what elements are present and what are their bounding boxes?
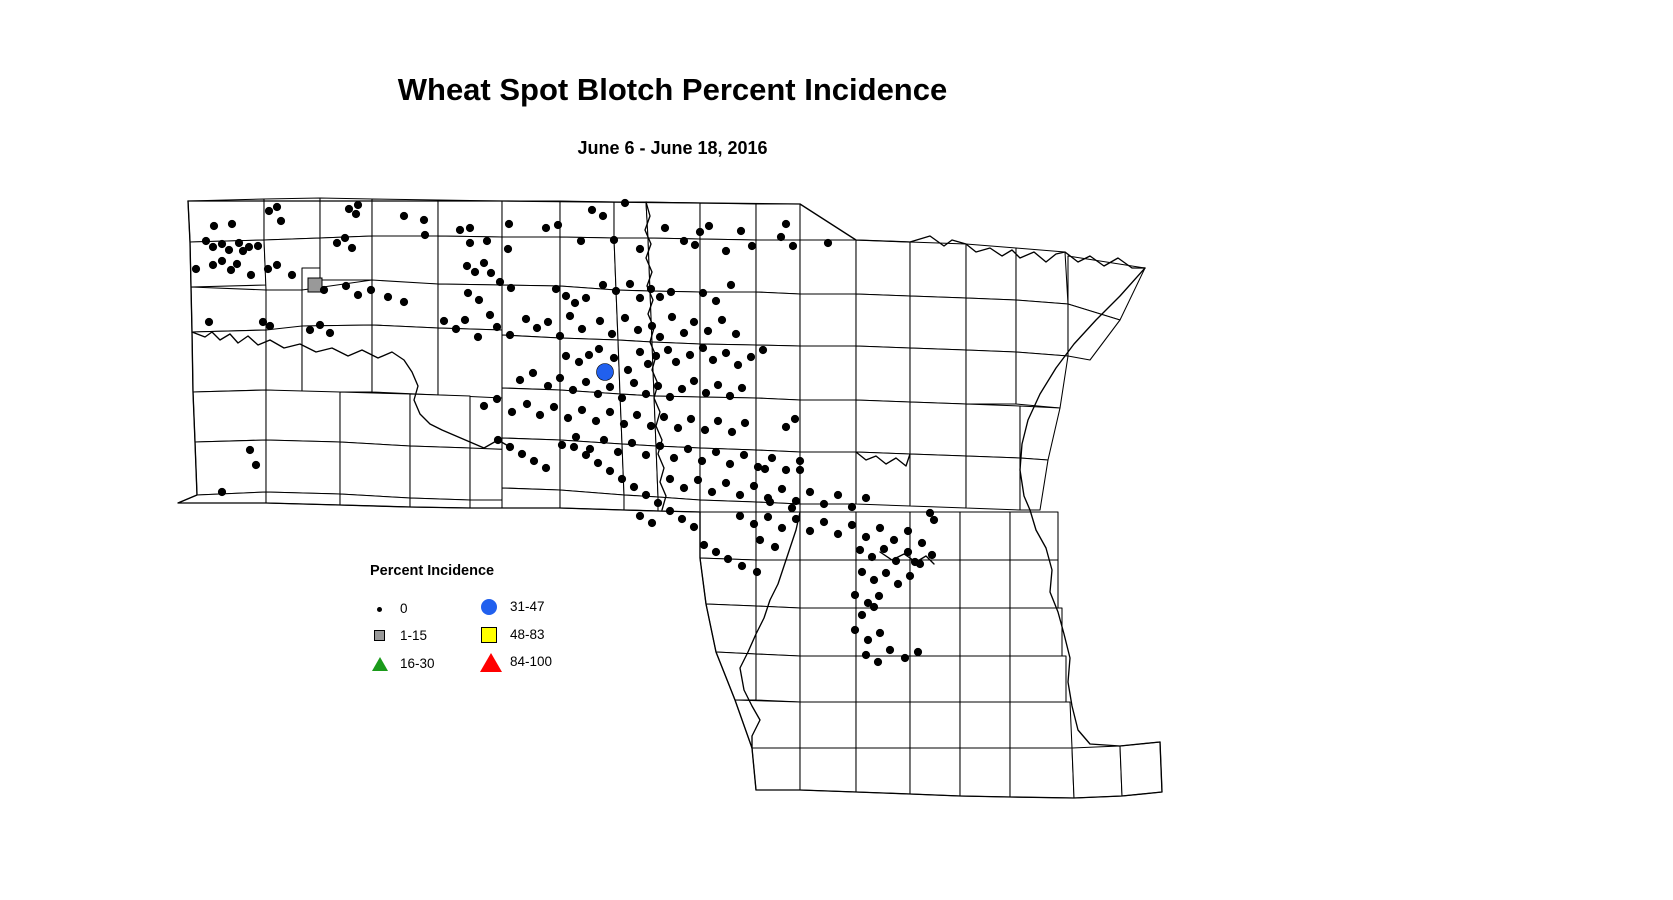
survey-point[interactable] — [696, 228, 704, 236]
survey-point[interactable] — [782, 220, 790, 228]
survey-point[interactable] — [778, 485, 786, 493]
survey-point[interactable] — [796, 466, 804, 474]
survey-point[interactable] — [894, 580, 902, 588]
survey-point[interactable] — [506, 443, 514, 451]
survey-point[interactable] — [792, 497, 800, 505]
survey-point[interactable] — [704, 327, 712, 335]
survey-point[interactable] — [556, 332, 564, 340]
survey-point[interactable] — [778, 524, 786, 532]
survey-point[interactable] — [461, 316, 469, 324]
legend-label-48-83: 48-83 — [510, 627, 545, 642]
survey-point[interactable] — [575, 358, 583, 366]
survey-point[interactable] — [738, 384, 746, 392]
survey-point[interactable] — [656, 442, 664, 450]
survey-point[interactable] — [636, 294, 644, 302]
survey-point[interactable] — [670, 454, 678, 462]
survey-point[interactable] — [789, 242, 797, 250]
survey-point[interactable] — [610, 236, 618, 244]
survey-point[interactable] — [354, 291, 362, 299]
survey-point[interactable] — [599, 212, 607, 220]
survey-point[interactable] — [209, 243, 217, 251]
survey-point[interactable] — [712, 297, 720, 305]
survey-point[interactable] — [352, 210, 360, 218]
survey-point[interactable] — [862, 533, 870, 541]
survey-point[interactable] — [708, 488, 716, 496]
survey-point[interactable] — [661, 224, 669, 232]
survey-point[interactable] — [904, 527, 912, 535]
survey-point[interactable] — [690, 523, 698, 531]
survey-point[interactable] — [718, 316, 726, 324]
survey-point[interactable] — [806, 488, 814, 496]
survey-point[interactable] — [740, 451, 748, 459]
survey-point[interactable] — [608, 330, 616, 338]
survey-point[interactable] — [766, 498, 774, 506]
legend-label-16-30: 16-30 — [400, 656, 435, 671]
survey-point[interactable] — [796, 457, 804, 465]
survey-point[interactable] — [463, 262, 471, 270]
survey-point[interactable] — [522, 315, 530, 323]
survey-point[interactable] — [700, 541, 708, 549]
survey-point[interactable] — [636, 245, 644, 253]
survey-point[interactable] — [684, 445, 692, 453]
survey-point[interactable] — [493, 323, 501, 331]
survey-point[interactable] — [633, 411, 641, 419]
survey-point[interactable] — [273, 261, 281, 269]
survey-point[interactable] — [642, 451, 650, 459]
survey-point[interactable] — [736, 512, 744, 520]
survey-point[interactable] — [647, 422, 655, 430]
survey-point[interactable] — [756, 536, 764, 544]
survey-point[interactable] — [782, 423, 790, 431]
survey-point[interactable] — [870, 576, 878, 584]
survey-point[interactable] — [782, 466, 790, 474]
survey-point[interactable] — [326, 329, 334, 337]
survey-point[interactable] — [254, 242, 262, 250]
legend-symbol-blue-circle-icon — [480, 596, 502, 618]
survey-point[interactable] — [694, 476, 702, 484]
survey-point[interactable] — [726, 460, 734, 468]
survey-point[interactable] — [890, 536, 898, 544]
survey-point[interactable] — [747, 353, 755, 361]
survey-point[interactable] — [648, 322, 656, 330]
survey-point[interactable] — [210, 222, 218, 230]
legend-symbol-black-dot-icon — [370, 598, 392, 620]
survey-point[interactable] — [420, 216, 428, 224]
survey-point[interactable] — [471, 268, 479, 276]
survey-point[interactable] — [680, 329, 688, 337]
survey-point[interactable] — [235, 239, 243, 247]
survey-point[interactable] — [571, 299, 579, 307]
survey-point[interactable] — [880, 545, 888, 553]
survey-point[interactable] — [316, 321, 324, 329]
survey-point[interactable] — [686, 351, 694, 359]
survey-point[interactable] — [690, 318, 698, 326]
survey-point[interactable] — [918, 539, 926, 547]
survey-point[interactable] — [227, 266, 235, 274]
survey-point[interactable] — [834, 491, 842, 499]
survey-point[interactable] — [698, 457, 706, 465]
survey-point[interactable] — [911, 558, 919, 566]
survey-point[interactable] — [806, 527, 814, 535]
survey-point[interactable] — [606, 383, 614, 391]
survey-point[interactable] — [218, 240, 226, 248]
survey-point[interactable] — [678, 385, 686, 393]
survey-point[interactable] — [421, 231, 429, 239]
survey-point[interactable] — [666, 475, 674, 483]
legend-label-1-15: 1-15 — [400, 628, 427, 643]
survey-point[interactable] — [726, 392, 734, 400]
survey-point[interactable] — [754, 463, 762, 471]
survey-point[interactable] — [614, 448, 622, 456]
survey-point[interactable] — [926, 509, 934, 517]
survey-point[interactable] — [644, 360, 652, 368]
survey-point[interactable] — [493, 395, 501, 403]
survey-point[interactable] — [247, 271, 255, 279]
survey-point[interactable] — [610, 354, 618, 362]
survey-point[interactable] — [550, 403, 558, 411]
survey-point[interactable] — [636, 348, 644, 356]
survey-point[interactable] — [636, 512, 644, 520]
survey-point[interactable] — [672, 358, 680, 366]
survey-point[interactable] — [536, 411, 544, 419]
survey-point[interactable] — [597, 364, 614, 381]
survey-point[interactable] — [664, 346, 672, 354]
survey-point[interactable] — [533, 324, 541, 332]
survey-point[interactable] — [712, 448, 720, 456]
survey-point[interactable] — [874, 658, 882, 666]
survey-point[interactable] — [914, 648, 922, 656]
survey-point[interactable] — [306, 326, 314, 334]
survey-point[interactable] — [233, 260, 241, 268]
survey-point[interactable] — [930, 516, 938, 524]
survey-point[interactable] — [556, 374, 564, 382]
legend-symbol-yellow-square-icon — [480, 624, 502, 646]
survey-point[interactable] — [652, 352, 660, 360]
survey-point[interactable] — [642, 491, 650, 499]
survey-point[interactable] — [612, 287, 620, 295]
survey-point[interactable] — [722, 349, 730, 357]
survey-point[interactable] — [732, 330, 740, 338]
survey-point[interactable] — [722, 479, 730, 487]
survey-point[interactable] — [529, 369, 537, 377]
survey-point[interactable] — [367, 286, 375, 294]
survey-point[interactable] — [892, 557, 900, 565]
survey-point[interactable] — [666, 507, 674, 515]
survey-point[interactable] — [862, 494, 870, 502]
survey-point[interactable] — [628, 439, 636, 447]
survey-point[interactable] — [554, 221, 562, 229]
survey-point[interactable] — [714, 381, 722, 389]
survey-point[interactable] — [508, 408, 516, 416]
survey-point[interactable] — [342, 282, 350, 290]
survey-point[interactable] — [400, 298, 408, 306]
legend-symbol-green-triangle-icon — [370, 653, 392, 675]
survey-point[interactable] — [259, 318, 267, 326]
survey-point[interactable] — [483, 237, 491, 245]
survey-point[interactable] — [906, 572, 914, 580]
survey-point[interactable] — [595, 345, 603, 353]
survey-point[interactable] — [523, 400, 531, 408]
survey-point[interactable] — [791, 415, 799, 423]
survey-point[interactable] — [552, 285, 560, 293]
survey-point[interactable] — [542, 464, 550, 472]
survey-point[interactable] — [592, 417, 600, 425]
survey-point[interactable] — [634, 326, 642, 334]
survey-point[interactable] — [245, 243, 253, 251]
survey-point[interactable] — [474, 333, 482, 341]
survey-point[interactable] — [596, 317, 604, 325]
survey-point[interactable] — [753, 568, 761, 576]
survey-point[interactable] — [209, 261, 217, 269]
survey-point[interactable] — [642, 390, 650, 398]
survey-point[interactable] — [876, 629, 884, 637]
survey-point[interactable] — [621, 199, 629, 207]
survey-point[interactable] — [618, 475, 626, 483]
survey-point[interactable] — [348, 244, 356, 252]
survey-point[interactable] — [578, 325, 586, 333]
survey-point[interactable] — [384, 293, 392, 301]
survey-point[interactable] — [864, 636, 872, 644]
survey-point[interactable] — [577, 237, 585, 245]
survey-point[interactable] — [862, 651, 870, 659]
survey-point[interactable] — [341, 234, 349, 242]
survey-point[interactable] — [569, 386, 577, 394]
survey-point[interactable] — [868, 553, 876, 561]
survey-point[interactable] — [666, 393, 674, 401]
survey-point[interactable] — [542, 224, 550, 232]
survey-point[interactable] — [738, 562, 746, 570]
survey-point[interactable] — [761, 465, 769, 473]
survey-point[interactable] — [562, 352, 570, 360]
map-legend: Percent Incidence 0 1-15 16-30 31-4 — [370, 558, 630, 688]
survey-point[interactable] — [288, 271, 296, 279]
survey-point[interactable] — [504, 245, 512, 253]
survey-point[interactable] — [333, 239, 341, 247]
survey-point[interactable] — [564, 414, 572, 422]
survey-point[interactable] — [678, 515, 686, 523]
survey-point[interactable] — [544, 382, 552, 390]
survey-point[interactable] — [736, 491, 744, 499]
survey-point[interactable] — [266, 322, 274, 330]
survey-point[interactable] — [594, 390, 602, 398]
legend-title: Percent Incidence — [370, 563, 494, 579]
survey-point[interactable] — [660, 413, 668, 421]
map-figure-canvas: Wheat Spot Blotch Percent Incidence June… — [0, 0, 1673, 900]
survey-point[interactable] — [606, 467, 614, 475]
survey-point[interactable] — [674, 424, 682, 432]
survey-point[interactable] — [750, 482, 758, 490]
survey-point[interactable] — [680, 484, 688, 492]
legend-label-31-47: 31-47 — [510, 599, 545, 614]
survey-point[interactable] — [901, 654, 909, 662]
survey-point[interactable] — [768, 454, 776, 462]
survey-point[interactable] — [578, 406, 586, 414]
survey-point[interactable] — [647, 285, 655, 293]
survey-point[interactable] — [656, 293, 664, 301]
survey-point[interactable] — [480, 259, 488, 267]
survey-point[interactable] — [506, 331, 514, 339]
survey-point[interactable] — [870, 603, 878, 611]
survey-point[interactable] — [792, 515, 800, 523]
survey-point[interactable] — [518, 450, 526, 458]
survey-point[interactable] — [530, 457, 538, 465]
survey-point[interactable] — [265, 207, 273, 215]
survey-point[interactable] — [494, 436, 502, 444]
survey-point[interactable] — [452, 325, 460, 333]
legend-label-84-100: 84-100 — [510, 654, 552, 669]
survey-point[interactable] — [599, 281, 607, 289]
survey-point[interactable] — [856, 546, 864, 554]
survey-point[interactable] — [566, 312, 574, 320]
survey-point[interactable] — [582, 378, 590, 386]
survey-point[interactable] — [705, 222, 713, 230]
survey-point[interactable] — [620, 420, 628, 428]
survey-point[interactable] — [218, 257, 226, 265]
survey-point[interactable] — [544, 318, 552, 326]
survey-point[interactable] — [727, 281, 735, 289]
survey-point[interactable] — [600, 436, 608, 444]
survey-point[interactable] — [876, 524, 884, 532]
survey-point[interactable] — [487, 269, 495, 277]
survey-point[interactable] — [702, 389, 710, 397]
survey-point[interactable] — [848, 521, 856, 529]
survey-point[interactable] — [621, 314, 629, 322]
survey-point[interactable] — [558, 441, 566, 449]
survey-point[interactable] — [464, 289, 472, 297]
survey-point[interactable] — [654, 382, 662, 390]
survey-point[interactable] — [858, 568, 866, 576]
survey-point[interactable] — [848, 503, 856, 511]
survey-point[interactable] — [699, 289, 707, 297]
survey-point[interactable] — [246, 446, 254, 454]
survey-point[interactable] — [205, 318, 213, 326]
survey-point[interactable] — [764, 513, 772, 521]
survey-point[interactable] — [505, 220, 513, 228]
survey-point[interactable] — [701, 426, 709, 434]
choropleth-point-map[interactable] — [0, 0, 1673, 900]
survey-point[interactable] — [192, 265, 200, 273]
survey-point[interactable] — [630, 379, 638, 387]
survey-point[interactable] — [656, 333, 664, 341]
survey-point[interactable] — [820, 518, 828, 526]
survey-point[interactable] — [690, 377, 698, 385]
survey-point[interactable] — [691, 241, 699, 249]
survey-point[interactable] — [252, 461, 260, 469]
survey-point[interactable] — [400, 212, 408, 220]
survey-point[interactable] — [759, 346, 767, 354]
survey-point[interactable] — [928, 551, 936, 559]
survey-point[interactable] — [218, 488, 226, 496]
survey-point[interactable] — [273, 203, 281, 211]
survey-point[interactable] — [582, 451, 590, 459]
survey-point[interactable] — [668, 313, 676, 321]
survey-point[interactable] — [486, 311, 494, 319]
survey-point[interactable] — [858, 611, 866, 619]
survey-point[interactable] — [654, 499, 662, 507]
survey-point[interactable] — [882, 569, 890, 577]
survey-point[interactable] — [748, 242, 756, 250]
survey-point[interactable] — [626, 280, 634, 288]
survey-point[interactable] — [562, 292, 570, 300]
survey-point[interactable] — [699, 344, 707, 352]
survey-point[interactable] — [834, 530, 842, 538]
survey-point[interactable] — [722, 247, 730, 255]
survey-point[interactable] — [624, 366, 632, 374]
survey-point[interactable] — [588, 206, 596, 214]
survey-point[interactable] — [308, 278, 322, 292]
survey-point[interactable] — [714, 417, 722, 425]
survey-point[interactable] — [741, 419, 749, 427]
survey-point[interactable] — [771, 543, 779, 551]
survey-point[interactable] — [750, 520, 758, 528]
survey-point[interactable] — [225, 246, 233, 254]
legend-symbol-red-triangle-icon — [480, 651, 502, 673]
survey-point[interactable] — [466, 224, 474, 232]
survey-point[interactable] — [496, 278, 504, 286]
survey-point[interactable] — [202, 237, 210, 245]
survey-point[interactable] — [680, 237, 688, 245]
survey-point[interactable] — [570, 443, 578, 451]
survey-point[interactable] — [594, 459, 602, 467]
survey-point[interactable] — [728, 428, 736, 436]
survey-point[interactable] — [345, 205, 353, 213]
survey-point[interactable] — [480, 402, 488, 410]
survey-point[interactable] — [618, 394, 626, 402]
survey-point[interactable] — [475, 296, 483, 304]
survey-point[interactable] — [904, 548, 912, 556]
survey-point[interactable] — [320, 286, 328, 294]
survey-point[interactable] — [875, 592, 883, 600]
survey-point[interactable] — [630, 483, 638, 491]
survey-point[interactable] — [466, 239, 474, 247]
survey-point[interactable] — [264, 265, 272, 273]
survey-point[interactable] — [687, 415, 695, 423]
survey-point[interactable] — [667, 288, 675, 296]
survey-point[interactable] — [572, 433, 580, 441]
survey-point[interactable] — [737, 227, 745, 235]
survey-point[interactable] — [277, 217, 285, 225]
survey-point[interactable] — [851, 591, 859, 599]
legend-symbol-gray-square-icon — [370, 625, 392, 647]
survey-point[interactable] — [585, 351, 593, 359]
survey-point[interactable] — [777, 233, 785, 241]
survey-point[interactable] — [507, 284, 515, 292]
survey-point[interactable] — [648, 519, 656, 527]
survey-point[interactable] — [440, 317, 448, 325]
map-svg[interactable] — [0, 0, 1673, 900]
survey-point[interactable] — [788, 504, 796, 512]
survey-point[interactable] — [712, 548, 720, 556]
legend-label-0: 0 — [400, 601, 408, 616]
survey-point[interactable] — [582, 294, 590, 302]
survey-point[interactable] — [709, 356, 717, 364]
survey-point[interactable] — [456, 226, 464, 234]
survey-point[interactable] — [354, 201, 362, 209]
survey-point[interactable] — [851, 626, 859, 634]
survey-point[interactable] — [516, 376, 524, 384]
survey-point[interactable] — [606, 408, 614, 416]
survey-point[interactable] — [734, 361, 742, 369]
survey-point[interactable] — [228, 220, 236, 228]
survey-point[interactable] — [724, 555, 732, 563]
survey-point[interactable] — [820, 500, 828, 508]
survey-point[interactable] — [824, 239, 832, 247]
survey-point[interactable] — [886, 646, 894, 654]
